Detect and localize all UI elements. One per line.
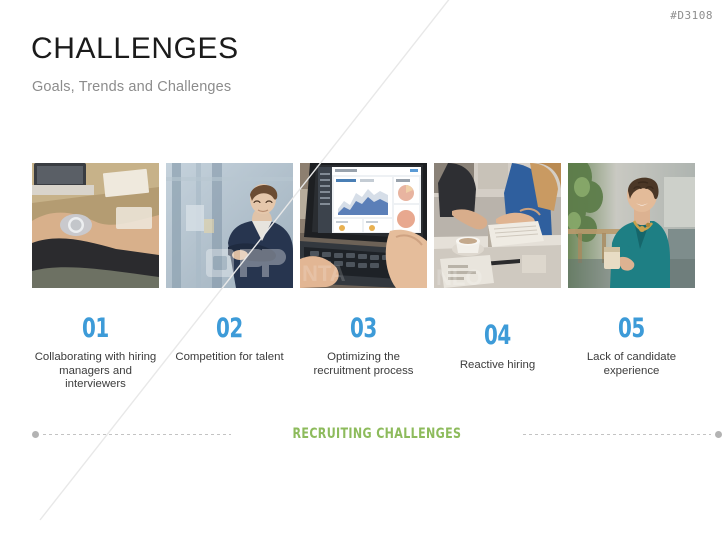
dashed-line-right: [523, 434, 711, 435]
footer-label: RECRUITING CHALLENGES: [252, 426, 502, 442]
challenge-card-01[interactable]: 01 Collaborating with hiring managers an…: [32, 163, 159, 392]
challenge-number: 01: [82, 315, 109, 342]
page-subtitle: Goals, Trends and Challenges: [32, 79, 231, 95]
page-title: CHALLENGES: [31, 32, 239, 66]
businessman-arms-crossed-photo: [166, 163, 293, 288]
dashed-line-left: [43, 434, 231, 435]
challenge-card-05[interactable]: 05 Lack of candidate experience: [568, 163, 695, 392]
svg-text:NLO: NLO: [436, 265, 482, 288]
footer-band: RECRUITING CHALLENGES: [32, 424, 695, 444]
smiling-woman-coffee-photo: [568, 163, 695, 288]
challenge-card-04[interactable]: NLO 04 Reactive hiring: [434, 163, 561, 392]
challenge-number: 04: [484, 322, 511, 349]
laptop-analytics-dashboard-photo: NTA: [300, 163, 427, 288]
handshake-over-desk-photo: [32, 163, 159, 288]
dot-marker-right-icon: [715, 431, 722, 438]
dot-marker-left-icon: [32, 431, 39, 438]
challenge-caption: Competition for talent: [164, 351, 296, 365]
challenge-number: 02: [216, 315, 243, 342]
svg-text:NTA: NTA: [302, 261, 346, 286]
slide-canvas: #D3108 CHALLENGES Goals, Trends and Chal…: [0, 0, 727, 545]
challenge-card-02[interactable]: 02 Competition for talent: [166, 163, 293, 392]
challenge-card-03[interactable]: NTA 03 Optimizing the recruitment proces…: [300, 163, 427, 392]
team-meeting-notebooks-photo: NLO: [434, 163, 561, 288]
challenge-cards-row: 01 Collaborating with hiring managers an…: [32, 163, 695, 392]
challenge-caption: Optimizing the recruitment process: [298, 351, 430, 378]
challenge-caption: Reactive hiring: [432, 359, 564, 373]
challenge-number: 03: [350, 315, 377, 342]
footer-divider-left: [32, 431, 235, 438]
footer-divider-right: [519, 431, 722, 438]
slide-code-label: #D3108: [670, 9, 713, 22]
challenge-number: 05: [618, 315, 645, 342]
challenge-caption: Collaborating with hiring managers and i…: [30, 351, 162, 392]
challenge-caption: Lack of candidate experience: [566, 351, 698, 378]
